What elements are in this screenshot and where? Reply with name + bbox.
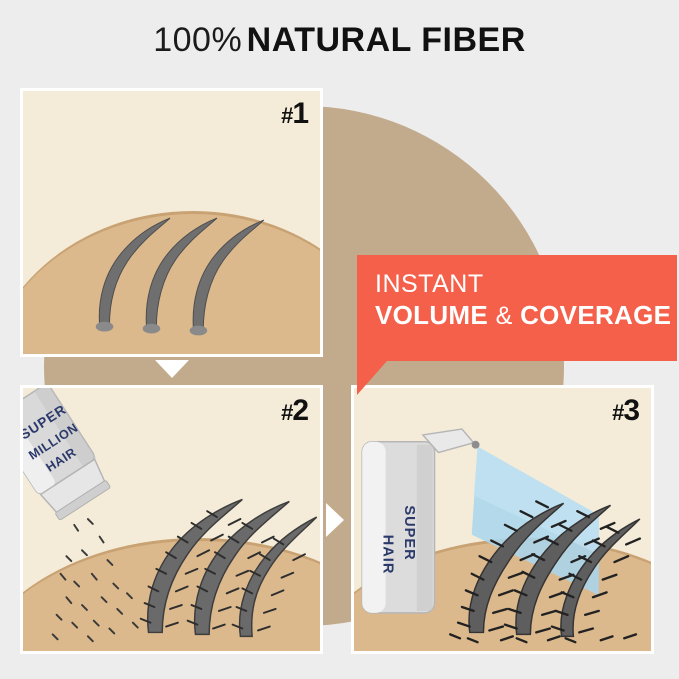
callout-coverage: COVERAGE <box>520 300 671 330</box>
panel-1-number: #1 <box>281 97 308 131</box>
headline-main: NATURAL FIBER <box>247 21 526 59</box>
panel-step-3: #3 SUPER HAIR <box>351 385 654 654</box>
panel-3-digit: 3 <box>623 394 639 427</box>
callout-ampersand: & <box>496 302 513 330</box>
arrow-down-icon <box>155 360 189 378</box>
callout-volume: VOLUME <box>375 300 488 330</box>
panel-3-hash: # <box>612 400 623 425</box>
arrow-right-icon <box>326 503 344 537</box>
callout-tail <box>357 361 387 395</box>
infographic-root: 100% NATURAL FIBER #1 #2 <box>0 0 679 679</box>
fiber-application-illustration: SUPER MILLION HAIR <box>23 388 320 651</box>
page-title: 100% NATURAL FIBER <box>0 21 679 60</box>
thin-hair-illustration <box>23 91 320 354</box>
panel-1-hash: # <box>281 103 292 128</box>
panel-2-hash: # <box>281 400 292 425</box>
svg-text:SUPER: SUPER <box>401 505 417 560</box>
panel-3-number: #3 <box>612 394 639 428</box>
callout-line-1: INSTANT <box>375 269 677 299</box>
panel-step-2: #2 SUPER MILLION HAIR <box>20 385 323 654</box>
panel-step-1: #1 <box>20 88 323 357</box>
panel-1-digit: 1 <box>292 97 308 130</box>
spray-fixing-illustration: SUPER HAIR <box>354 388 651 651</box>
callout-banner: INSTANT VOLUME & COVERAGE <box>357 255 677 361</box>
headline-percent: 100% <box>153 21 242 59</box>
panel-2-number: #2 <box>281 394 308 428</box>
callout-line-2: VOLUME & COVERAGE <box>375 299 677 332</box>
panel-2-digit: 2 <box>292 394 308 427</box>
svg-text:HAIR: HAIR <box>380 535 396 575</box>
